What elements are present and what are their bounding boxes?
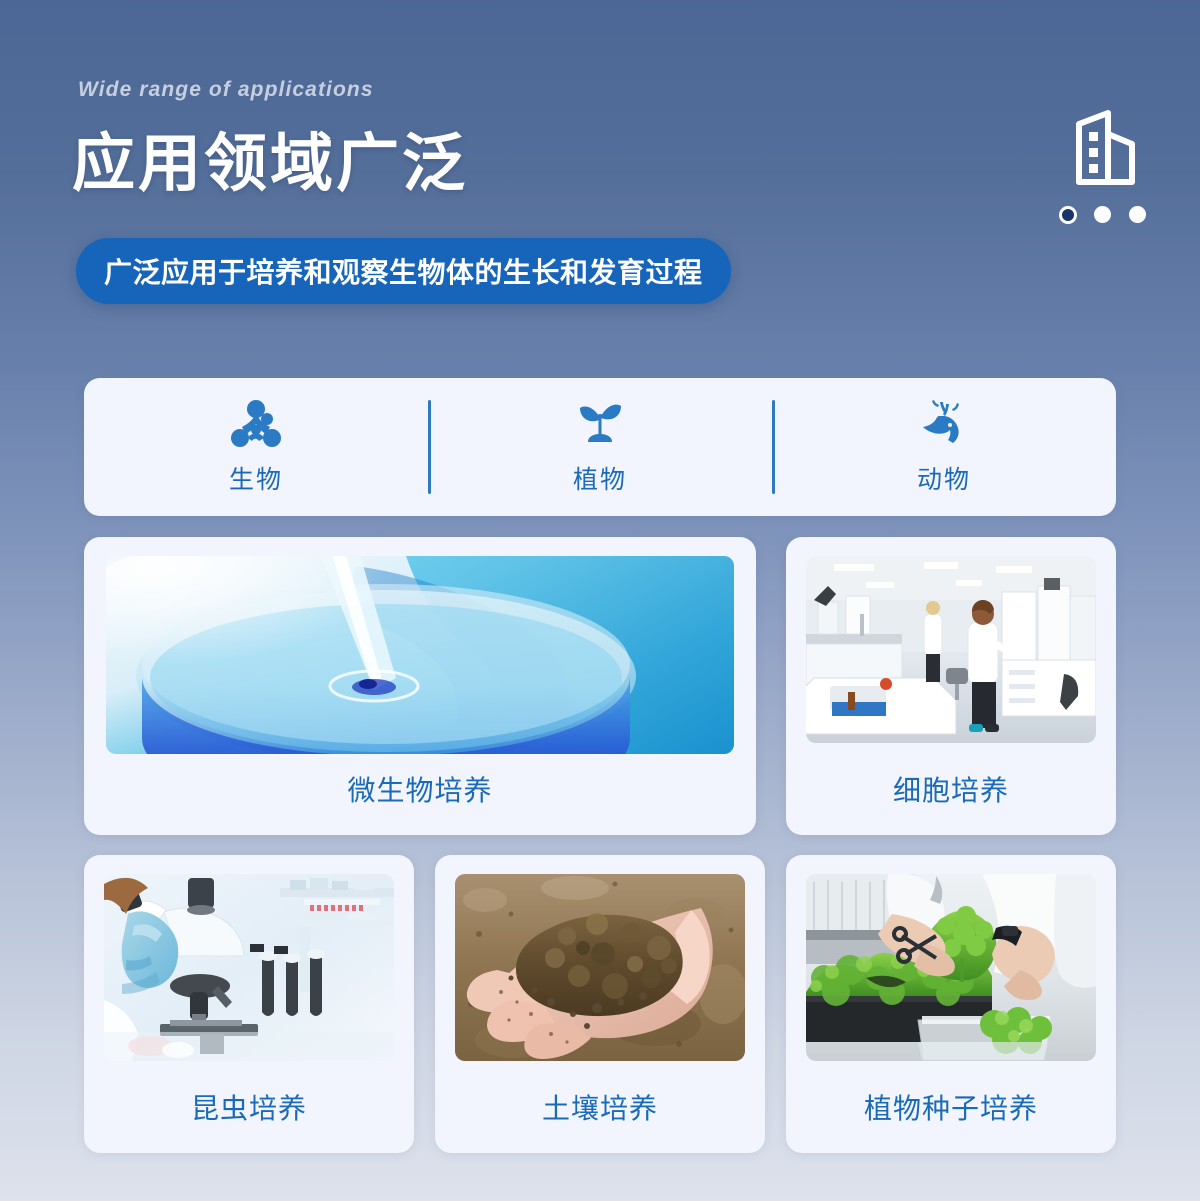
application-card-cell[interactable]: 细胞培养 [786,537,1116,835]
application-card-label: 昆虫培养 [84,1087,414,1127]
corner-badge [1032,108,1152,233]
white-laboratory-scientists-photo [806,556,1096,743]
application-card-seed[interactable]: 植物种子培养 [786,855,1116,1153]
pager-dot-3[interactable] [1129,206,1146,223]
carousel-pager[interactable] [1060,206,1146,223]
subtitle-banner: 广泛应用于培养和观察生物体的生长和发育过程 [76,238,731,304]
microscope-gloved-hand-photo [104,874,394,1061]
building-icon [1068,108,1140,186]
application-card-label: 土壤培养 [435,1087,765,1127]
pager-dot-2[interactable] [1094,206,1111,223]
category-label-plant: 植物 [573,460,627,496]
deer-icon [916,398,972,450]
seedling-icon [572,398,628,450]
hand-holding-soil-photo [455,874,745,1061]
microbe-molecule-icon [228,398,284,450]
category-item-animal[interactable]: 动物 [772,378,1116,516]
category-label-animal: 动物 [917,460,971,496]
page-title: 应用领域广泛 [72,113,468,204]
pager-dot-1[interactable] [1062,209,1074,221]
application-card-insect[interactable]: 昆虫培养 [84,855,414,1153]
category-item-biology[interactable]: 生物 [84,378,428,516]
subtitle-banner-text: 广泛应用于培养和观察生物体的生长和发育过程 [104,251,703,291]
application-card-label: 植物种子培养 [786,1087,1116,1127]
header-eyebrow: Wide range of applications [78,78,374,102]
category-label-biology: 生物 [229,460,283,496]
application-card-microbe[interactable]: 微生物培养 [84,537,756,835]
category-item-plant[interactable]: 植物 [428,378,772,516]
application-card-label: 微生物培养 [84,769,756,809]
petri-dish-blue-liquid-pipette-photo [106,556,734,754]
application-card-soil[interactable]: 土壤培养 [435,855,765,1153]
page-header: Wide range of applications 应用领域广泛 广泛应用于培… [0,0,1200,340]
green-seedling-trays-photo [806,874,1096,1061]
category-row: 生物 植物 [84,378,1116,516]
application-card-label: 细胞培养 [786,769,1116,809]
